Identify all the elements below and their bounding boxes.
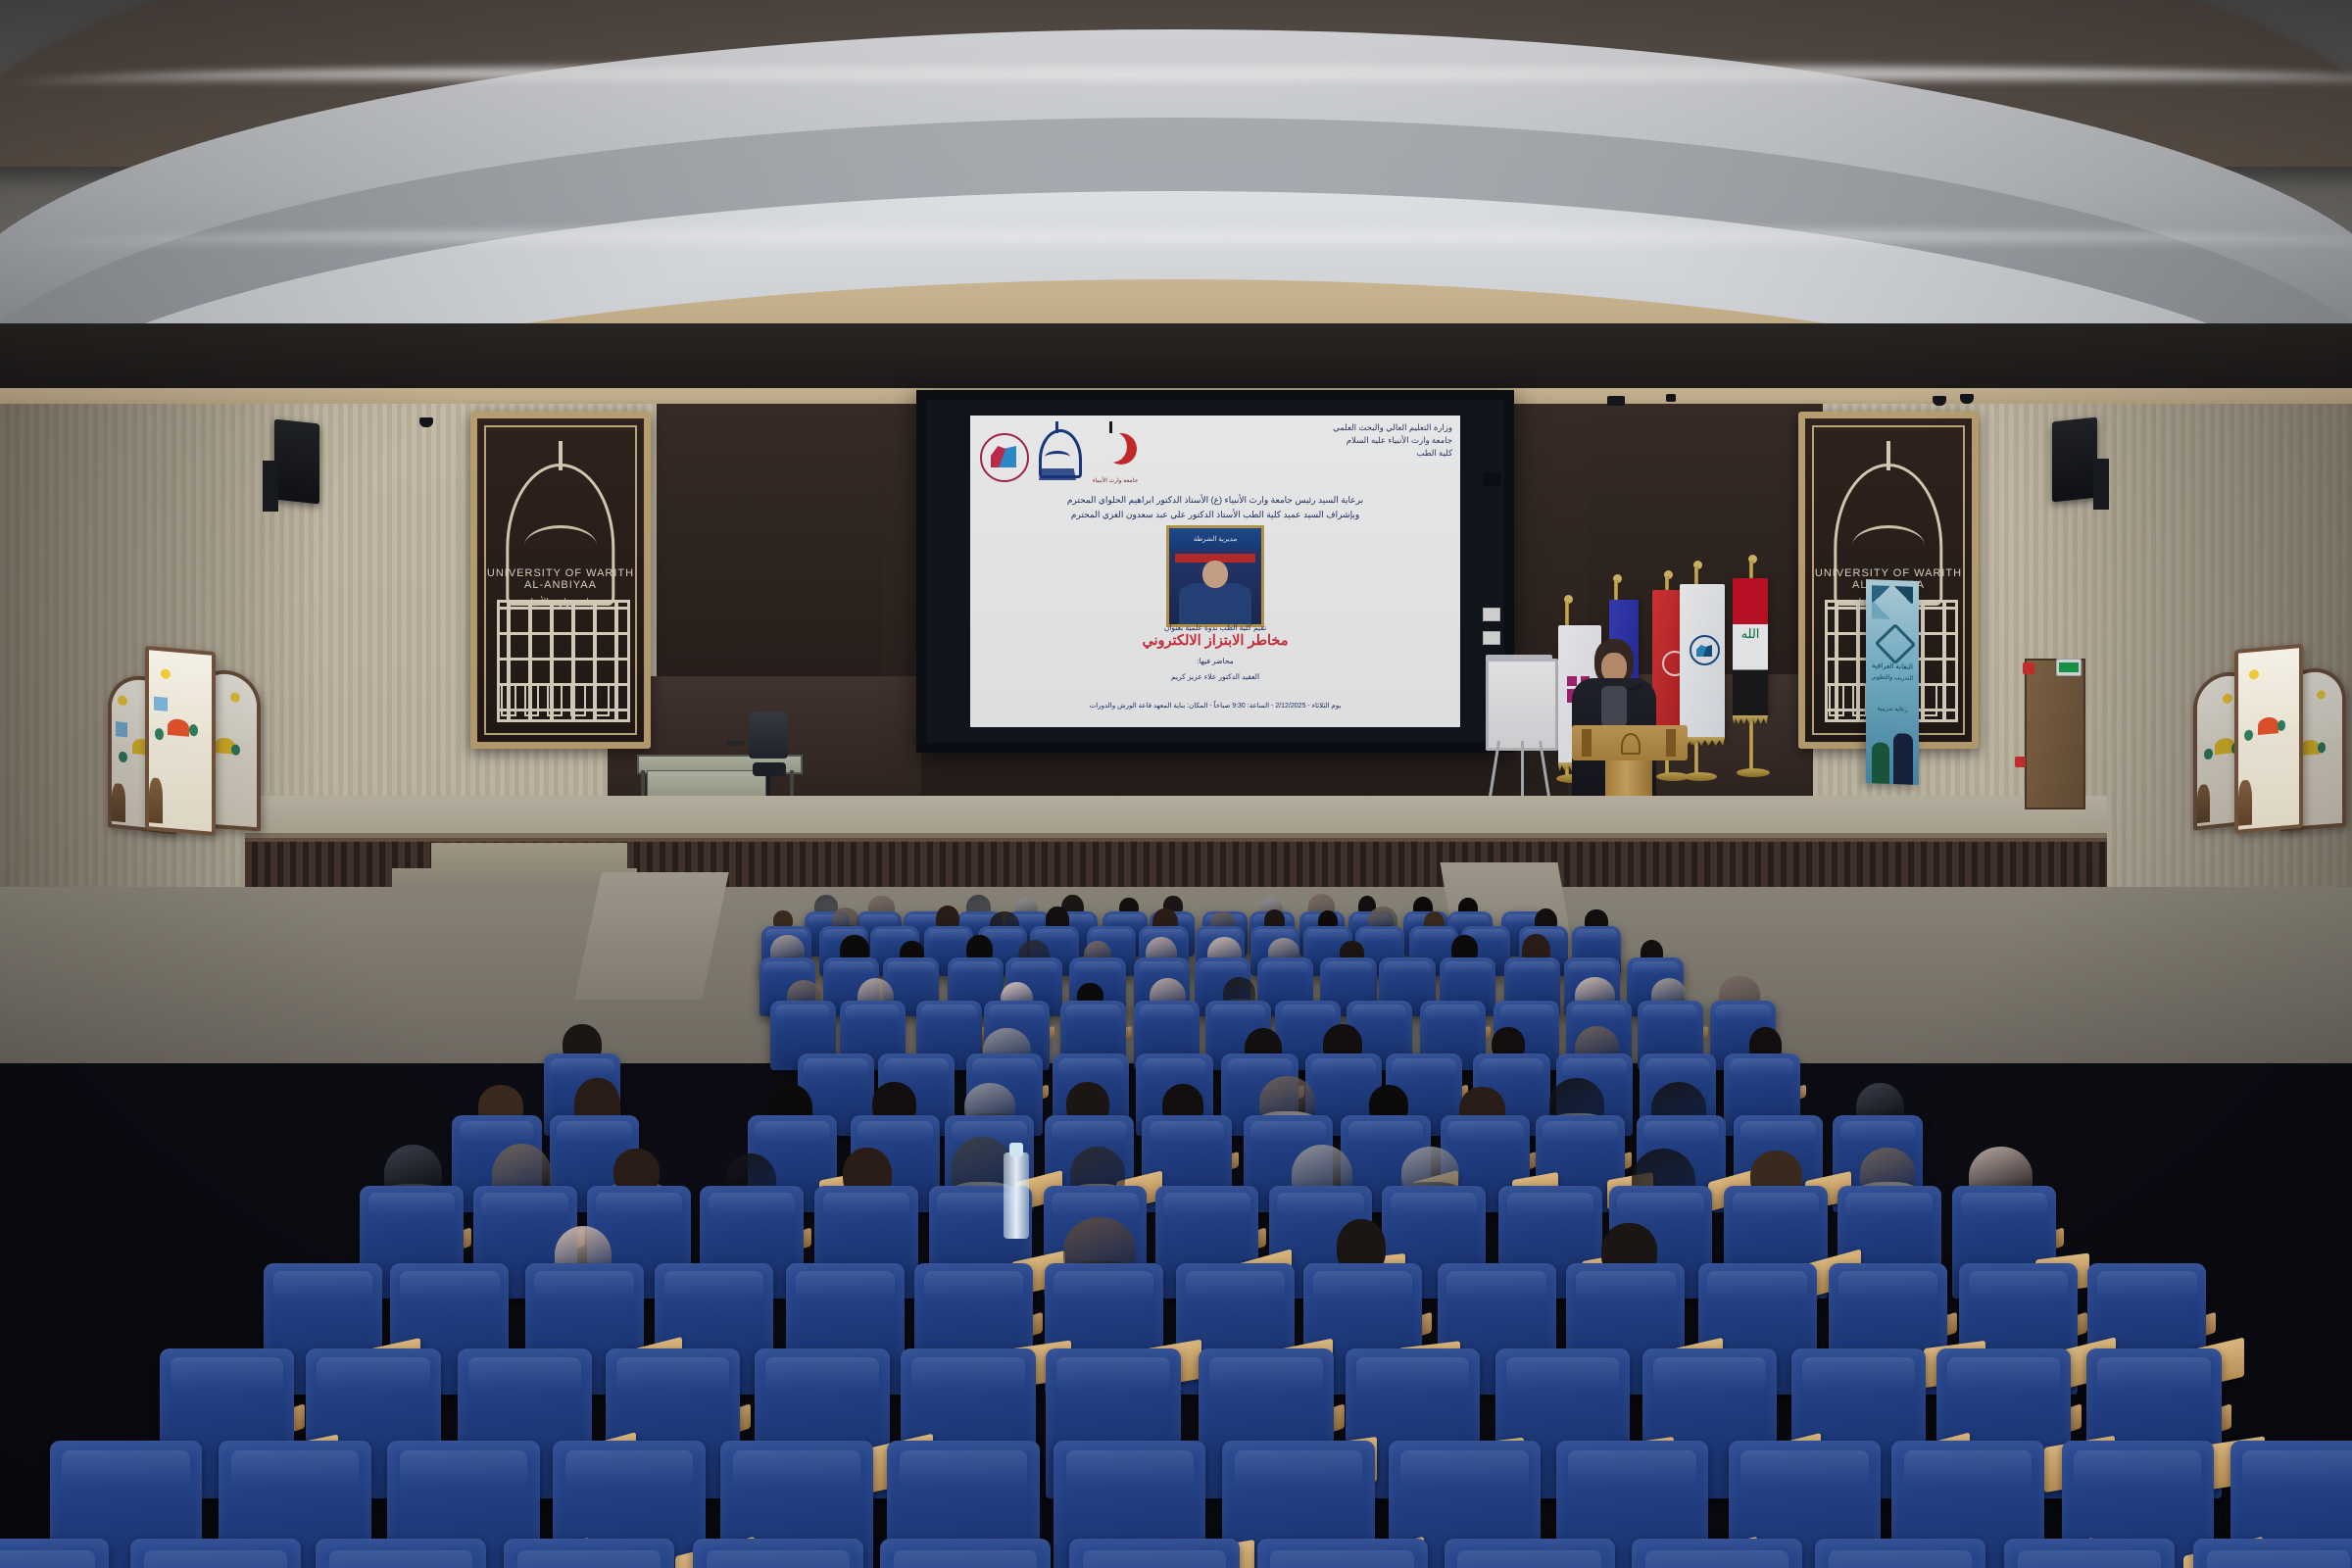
cctv-camera-left xyxy=(419,417,433,427)
auditorium-seat[interactable] xyxy=(504,1539,674,1568)
ministry-logo-icon xyxy=(980,433,1029,482)
auditorium-seat[interactable] xyxy=(2193,1539,2352,1568)
banner-person-right xyxy=(1893,733,1913,785)
exit-door[interactable] xyxy=(2025,659,2085,809)
desk-remote xyxy=(727,741,745,746)
speaker-bracket-left xyxy=(263,461,278,512)
photo-banner-text xyxy=(1169,528,1261,550)
flipchart-clamp xyxy=(1486,655,1552,661)
flipchart-leg-center xyxy=(1521,741,1524,796)
slide-content: جامعة وارث الأنبياء وزارة التعليم العالي… xyxy=(970,416,1460,727)
auditorium-seat[interactable] xyxy=(1257,1539,1428,1568)
auditorium-seat[interactable] xyxy=(0,1539,109,1568)
auditorium-seat[interactable] xyxy=(693,1539,863,1568)
slide-header-block: وزارة التعليم العالي والبحث العلمي جامعة… xyxy=(1149,421,1452,461)
auditorium-photo: UNIVERSITY OF WARITH AL-ANBIYAA جامعة وا… xyxy=(0,0,2352,1568)
auditorium-seat[interactable] xyxy=(1445,1539,1615,1568)
fire-alarm-upper[interactable] xyxy=(2023,662,2034,674)
auditorium-seat[interactable] xyxy=(1632,1539,1802,1568)
slide-patronage-line: برعاية السيد رئيس جامعة وارث الأنبياء (ع… xyxy=(984,494,1446,508)
wall-dark-panel-left xyxy=(657,404,882,698)
auditorium-seat[interactable] xyxy=(1815,1539,1985,1568)
wall-speaker-right xyxy=(2052,417,2097,503)
auditorium-seat[interactable] xyxy=(880,1539,1051,1568)
banner-heading: النقابة العراقية xyxy=(1870,661,1915,671)
university-flag xyxy=(1680,584,1725,739)
auditorium-seat[interactable] xyxy=(1069,1539,1240,1568)
banner-geometry-icon xyxy=(1872,585,1913,619)
university-logo-icon xyxy=(1033,421,1082,484)
flag-emblem-4 xyxy=(1690,635,1720,665)
slide-supervision-line: وبإشراف السيد عميد كلية الطب الأستاذ الد… xyxy=(984,509,1446,522)
slide-footer-line: يوم الثلاثاء - 2/12/2025 - الساعة: 9:30 … xyxy=(970,702,1460,710)
slide-university-line: جامعة وارث الأنبياء عليه السلام xyxy=(1149,434,1452,447)
slide-ministry-line: وزارة التعليم العالي والبحث العلمي xyxy=(1149,421,1452,434)
lecturer-photo xyxy=(1166,525,1264,627)
ceiling-sensor xyxy=(1666,394,1676,402)
auditorium-seat[interactable] xyxy=(316,1539,486,1568)
office-chair-back xyxy=(749,711,788,759)
flag-base-5 xyxy=(1737,768,1770,777)
flag-base-4 xyxy=(1684,772,1717,781)
projector-mount xyxy=(1607,396,1625,406)
banner-star-icon xyxy=(1875,623,1916,664)
panel-label-en: UNIVERSITY OF WARITH AL-ANBIYAA xyxy=(477,567,644,591)
flipchart-board xyxy=(1486,659,1558,751)
water-bottle-on-armrest xyxy=(1004,1152,1029,1239)
slide-intro-line: تقيم كلية الطب ندوة علمية بعنوان xyxy=(970,623,1460,632)
wall-art-panel-right-2 xyxy=(2234,644,2303,834)
water-bottle-cap xyxy=(1009,1143,1023,1156)
cctv-camera-center xyxy=(1960,394,1974,404)
exit-sign xyxy=(2056,659,2082,676)
banner-sub: للتدريب والتطوير xyxy=(1870,673,1915,682)
podium-emblem-icon xyxy=(1621,733,1641,755)
auditorium-seat[interactable] xyxy=(2004,1539,2175,1568)
auditorium-seat[interactable] xyxy=(130,1539,301,1568)
university-emblem-panel-left: UNIVERSITY OF WARITH AL-ANBIYAA جامعة وا… xyxy=(470,412,651,749)
slide-logos: جامعة وارث الأنبياء xyxy=(976,419,1157,488)
projection-screen: جامعة وارث الأنبياء وزارة التعليم العالي… xyxy=(916,390,1514,753)
crescent-logo-label: جامعة وارث الأنبياء xyxy=(1090,477,1141,484)
wall-art-panel-left-2 xyxy=(145,646,216,836)
slide-college-line: كلية الطب xyxy=(1149,447,1452,460)
center-aisle xyxy=(574,872,729,1000)
presenter-shirt xyxy=(1601,686,1627,727)
banner-cta: رعاية تدريبية xyxy=(1870,705,1915,713)
wall-speaker-left xyxy=(274,419,319,505)
podium-inlay-left xyxy=(1582,729,1592,757)
slide-lecturer-label: محاضر فيها: xyxy=(970,657,1460,665)
rollup-banner: النقابة العراقية للتدريب والتطوير رعاية … xyxy=(1866,579,1919,785)
iraq-flag: الله xyxy=(1733,578,1768,717)
red-crescent-logo-icon: جامعة وارث الأنبياء xyxy=(1090,421,1141,486)
speaker-bracket-right xyxy=(2093,459,2109,510)
cctv-camera-right xyxy=(1933,396,1946,406)
fire-alarm-lower[interactable] xyxy=(2015,757,2026,767)
podium-inlay-right xyxy=(1666,729,1676,757)
banner-person-left xyxy=(1872,742,1889,784)
slide-title: مخاطر الابتزاز الالكتروني xyxy=(970,633,1460,649)
slide-lecturer-name: العقيد الدكتور علاء عزيز كريم xyxy=(970,672,1460,681)
